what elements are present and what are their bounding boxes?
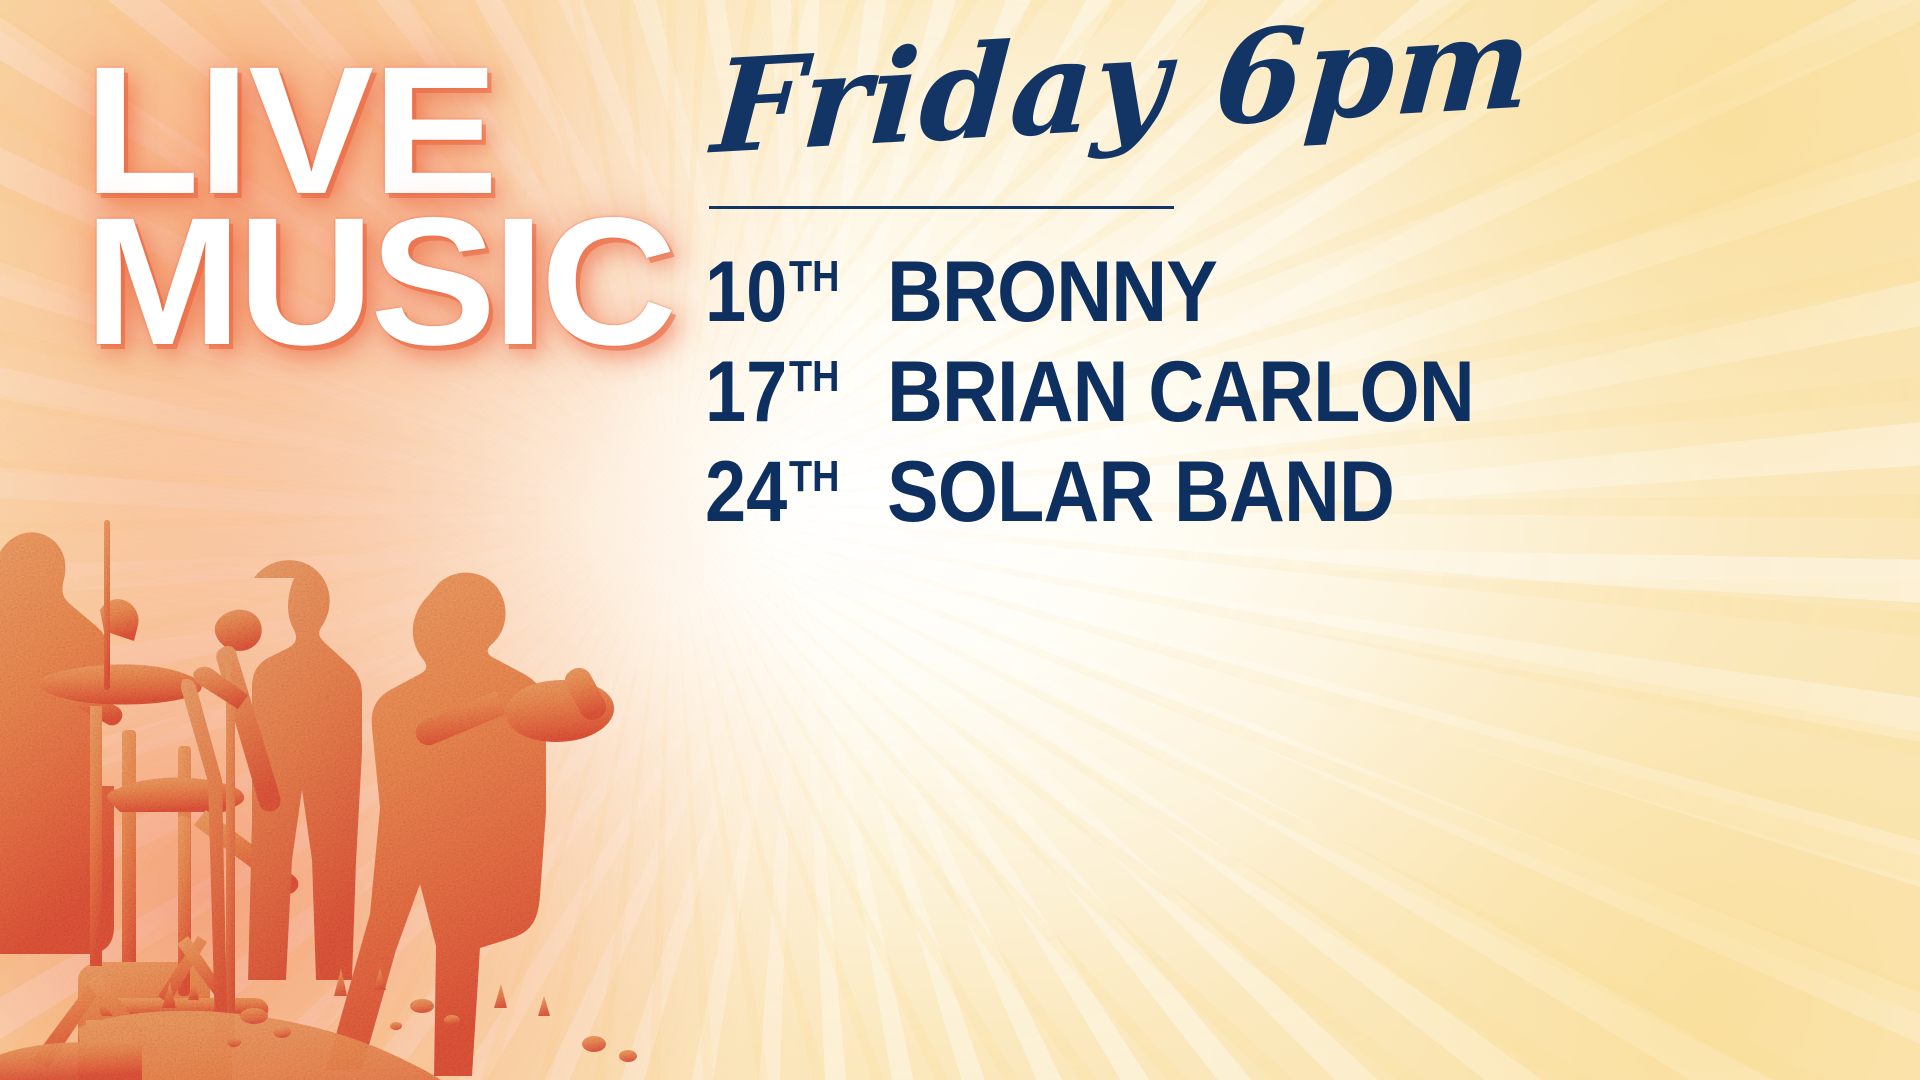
lineup-date: 10TH — [705, 249, 858, 335]
lineup-day-number: 10 — [705, 244, 787, 340]
lineup-day-ordinal: TH — [789, 252, 839, 301]
lineup-date: 24TH — [705, 449, 858, 535]
divider-rule — [709, 206, 1174, 209]
lineup-artist: BRIAN CARLON — [887, 349, 1474, 435]
bottom-right-warm-glow — [1170, 580, 1920, 1080]
headline: LIVE MUSIC — [84, 52, 644, 359]
schedule-heading: Friday 6pm — [709, 0, 1848, 172]
lineup-artist: BRONNY — [887, 249, 1217, 335]
headline-line-music: MUSIC — [84, 203, 666, 360]
lineup-row: 24TH SOLAR BAND — [705, 449, 1845, 535]
lineup-day-number: 17 — [705, 344, 787, 440]
lineup-day-ordinal: TH — [789, 352, 839, 401]
lineup-artist: SOLAR BAND — [887, 449, 1394, 535]
lineup-row: 10TH BRONNY — [705, 249, 1845, 335]
live-music-poster: LIVE MUSIC Friday 6pm 10TH BRONNY 17TH B… — [0, 0, 1920, 1080]
lineup-date: 17TH — [705, 349, 858, 435]
lineup-day-ordinal: TH — [789, 452, 839, 501]
band-silhouette-artwork — [0, 460, 682, 1080]
schedule-panel: Friday 6pm 10TH BRONNY 17TH BRIAN CARLON… — [705, 44, 1845, 549]
lineup-day-number: 24 — [705, 444, 787, 540]
lineup-row: 17TH BRIAN CARLON — [705, 349, 1845, 435]
lineup-list: 10TH BRONNY 17TH BRIAN CARLON 24TH SOLAR… — [705, 249, 1845, 535]
